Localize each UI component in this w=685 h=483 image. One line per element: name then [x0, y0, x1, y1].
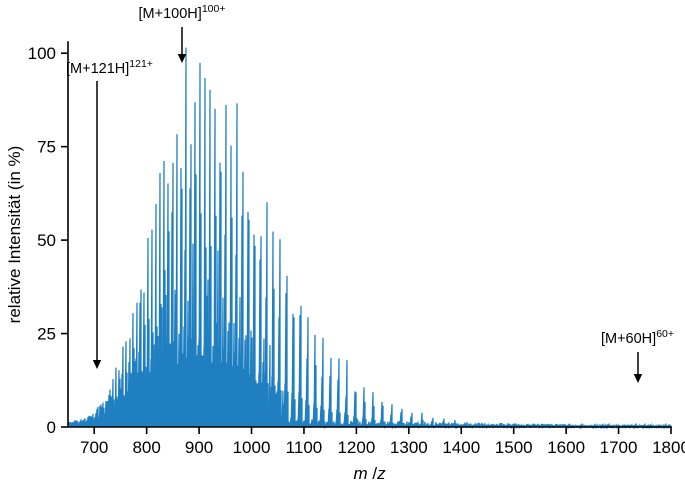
x-tick-label: 1200: [337, 438, 375, 457]
x-axis-title-slash: /: [368, 464, 378, 483]
x-tick-label: 1600: [547, 438, 585, 457]
x-tick-label: 1000: [233, 438, 271, 457]
x-axis-title-z: z: [376, 464, 386, 483]
y-tick-label: 25: [37, 325, 56, 344]
x-axis-title: m /z: [353, 464, 386, 483]
annotation-right-label: [M+60H]60+: [601, 328, 674, 347]
y-tick-label: 0: [47, 418, 56, 437]
annotations-group: [M+121H]121+[M+100H]100+[M+60H]60+: [66, 3, 674, 383]
annotation-middle-label-base: [M+100H]: [139, 6, 202, 22]
x-tick-label: 1800: [652, 438, 685, 457]
annotation-right-arrow-head: [634, 374, 642, 383]
annotation-middle-label: [M+100H]100+: [139, 3, 226, 22]
x-axis-title-m: m: [353, 464, 367, 483]
annotation-left-label: [M+121H]121+: [66, 58, 153, 77]
annotation-left-arrow-head: [93, 360, 101, 369]
x-tick-label: 700: [80, 438, 108, 457]
x-tick-label: 800: [132, 438, 160, 457]
spectrum-canvas: 0255075100700800900100011001200130014001…: [0, 0, 685, 483]
annotation-left-label-base: [M+121H]: [66, 61, 129, 77]
mass-spectrum-figure: 0255075100700800900100011001200130014001…: [0, 0, 685, 483]
annotation-right-label-base: [M+60H]: [601, 331, 656, 347]
spectrum-trace-group: [68, 48, 671, 427]
x-tick-label: 1500: [495, 438, 533, 457]
x-tick-label: 1300: [390, 438, 428, 457]
annotation-right-label-superscript: 60+: [656, 328, 674, 340]
y-axis-title: relative Intensität (in %): [5, 146, 24, 324]
annotation-left-label-superscript: 121+: [129, 58, 153, 70]
annotation-middle-label-superscript: 100+: [202, 3, 226, 15]
annotation-middle-arrow-head: [178, 54, 186, 63]
x-tick-label: 1100: [286, 438, 323, 457]
y-tick-label: 50: [37, 231, 56, 250]
x-tick-label: 900: [185, 438, 213, 457]
x-tick-label: 1400: [442, 438, 480, 457]
y-tick-label: 100: [28, 44, 56, 63]
spectrum-trace: [68, 48, 671, 427]
x-tick-label: 1700: [600, 438, 638, 457]
y-tick-label: 75: [37, 138, 56, 157]
